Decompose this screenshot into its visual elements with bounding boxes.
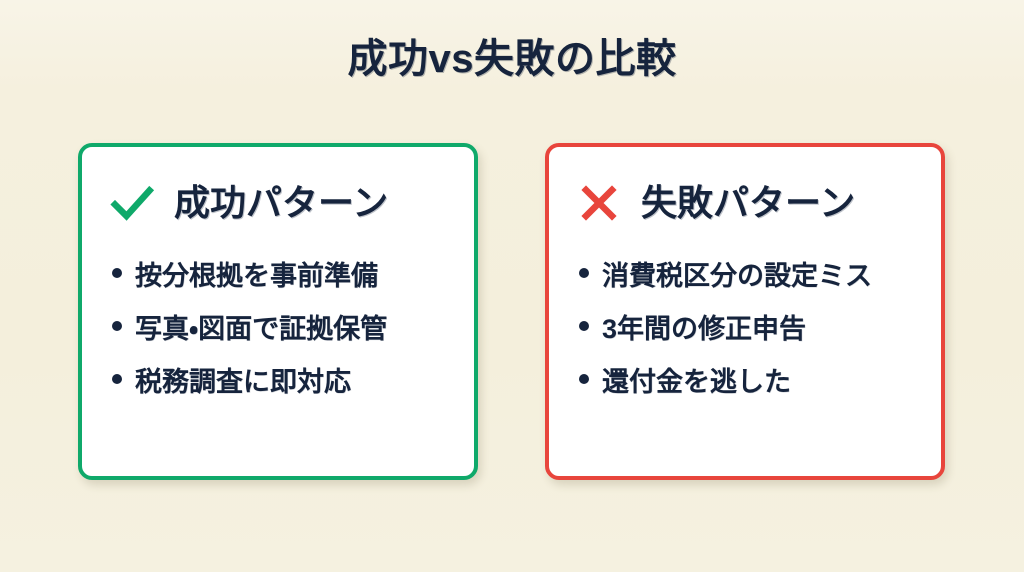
failure-card-heading: 失敗パターン — [641, 181, 855, 225]
list-item: 按分根拠を事前準備 — [112, 259, 458, 312]
list-item: 還付金を逃した — [579, 365, 925, 418]
bullet-icon — [579, 321, 589, 331]
list-item-label: 還付金を逃した — [602, 365, 791, 399]
success-card-heading: 成功パターン — [174, 181, 388, 225]
success-card-header: 成功パターン — [108, 175, 456, 231]
bullet-icon — [112, 374, 122, 384]
bullet-icon — [579, 374, 589, 384]
success-card: 成功パターン 按分根拠を事前準備 写真・図面で証拠保管 税務調査に即対応 — [78, 143, 478, 480]
list-item: 写真・図面で証拠保管 — [112, 312, 458, 365]
failure-card-list: 消費税区分の設定ミス 3年間の修正申告 還付金を逃した — [579, 259, 925, 418]
list-item-label: 消費税区分の設定ミス — [602, 259, 872, 293]
failure-card: 失敗パターン 消費税区分の設定ミス 3年間の修正申告 還付金を逃した — [545, 143, 945, 480]
comparison-slide: 成功vs失敗の比較 成功パターン 按分根拠を事前準備 写真・図面で証拠保管 税務… — [0, 0, 1024, 572]
bullet-icon — [579, 268, 589, 278]
success-card-list: 按分根拠を事前準備 写真・図面で証拠保管 税務調査に即対応 — [112, 259, 458, 418]
failure-card-header: 失敗パターン — [575, 175, 923, 231]
list-item-label: 税務調査に即対応 — [135, 365, 351, 399]
list-item: 3年間の修正申告 — [579, 312, 925, 365]
list-item: 消費税区分の設定ミス — [579, 259, 925, 312]
list-item-label: 写真・図面で証拠保管 — [135, 312, 387, 346]
list-item: 税務調査に即対応 — [112, 365, 458, 418]
list-item-label: 按分根拠を事前準備 — [135, 259, 378, 293]
list-item-label: 3年間の修正申告 — [602, 312, 806, 346]
page-title: 成功vs失敗の比較 — [0, 33, 1024, 85]
bullet-icon — [112, 321, 122, 331]
check-icon — [108, 179, 156, 227]
cross-icon — [575, 179, 623, 227]
bullet-icon — [112, 268, 122, 278]
